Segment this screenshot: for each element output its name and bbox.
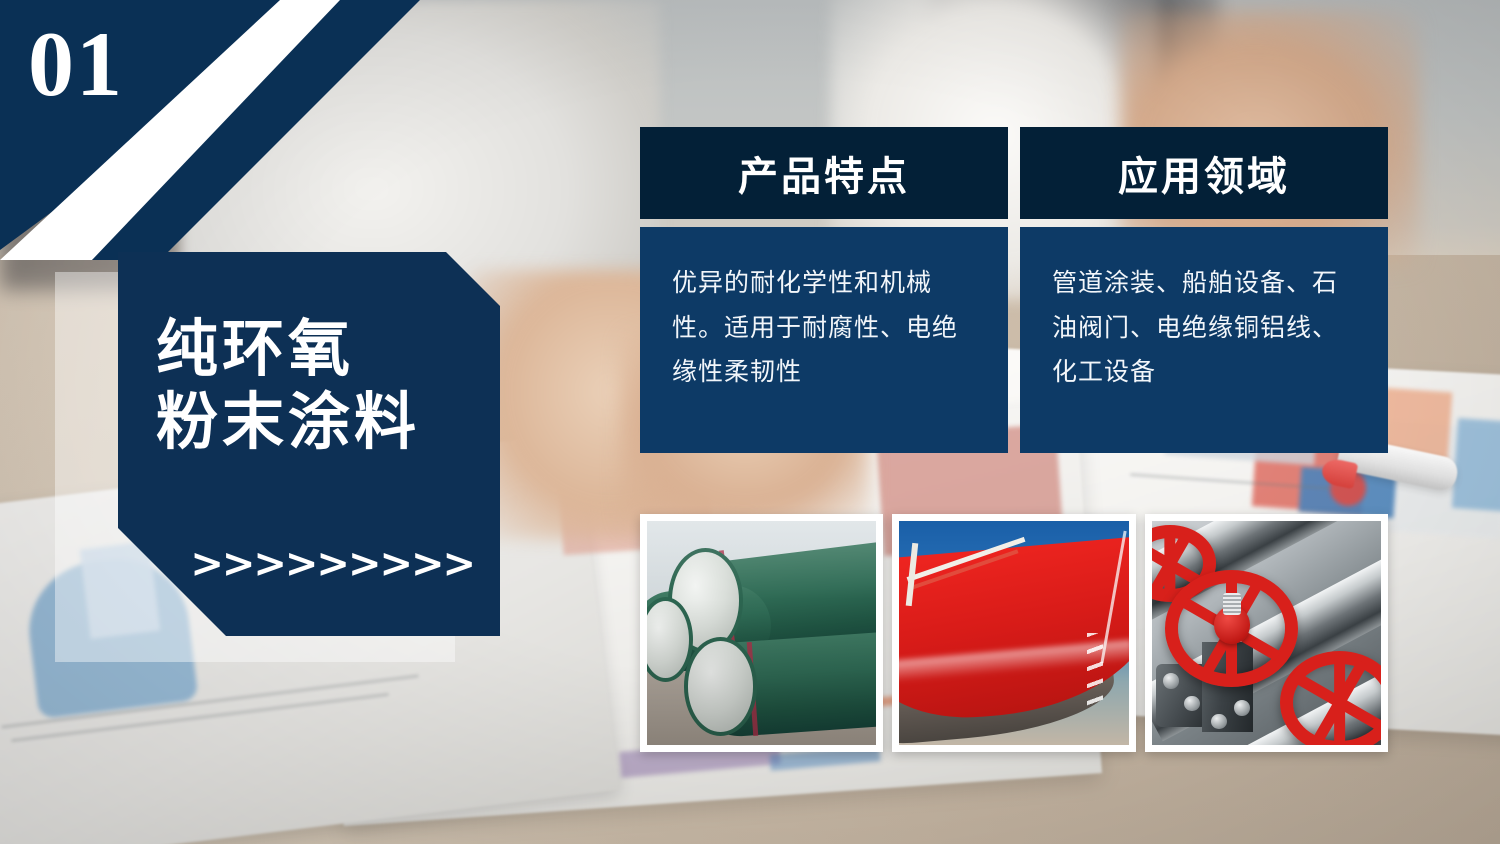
handwheel-spoke	[1334, 656, 1345, 745]
bolt	[1163, 673, 1179, 689]
valve-stem	[1223, 593, 1241, 615]
photo-red-painted-ship-hull[interactable]	[892, 514, 1135, 752]
bolt	[1184, 696, 1200, 712]
title-card: 纯环氧 粉末涂料 >>>>>>>>>	[118, 252, 500, 636]
pipes-scene	[647, 521, 876, 745]
panel-body-text: 优异的耐化学性和机械性。适用于耐腐性、电绝缘性柔韧性	[672, 261, 978, 395]
ship-scene	[899, 521, 1128, 745]
section-number: 01	[28, 18, 124, 110]
panel-heading-product-features[interactable]: 产品特点	[640, 127, 1008, 219]
photo-strip	[640, 514, 1388, 752]
panel-body-application-fields: 管道涂装、船舶设备、石油阀门、电绝缘铜铝线、化工设备	[1020, 227, 1388, 453]
slide-root: 01 纯环氧 粉末涂料 >>>>>>>>> 产品特点 应用领域 优异的耐化学性和…	[0, 0, 1500, 844]
photo-inner	[1152, 521, 1381, 745]
panel-heading-application-fields[interactable]: 应用领域	[1020, 127, 1388, 219]
panel-body-product-features: 优异的耐化学性和机械性。适用于耐腐性、电绝缘性柔韧性	[640, 227, 1008, 453]
handwheel-spoke	[1165, 531, 1176, 597]
panel-heading-row: 产品特点 应用领域	[640, 127, 1388, 219]
title-line-2: 粉末涂料	[156, 385, 486, 458]
photo-red-valve-handwheels[interactable]	[1145, 514, 1388, 752]
valve-scene	[1152, 521, 1381, 745]
pipe-sheen	[647, 521, 876, 745]
chevron-arrows-icon: >>>>>>>>>	[118, 544, 474, 584]
panel-heading-label: 产品特点	[738, 144, 910, 202]
ship-draft-marks	[1087, 633, 1103, 709]
panel-body-row: 优异的耐化学性和机械性。适用于耐腐性、电绝缘性柔韧性 管道涂装、船舶设备、石油阀…	[640, 227, 1388, 453]
photo-inner	[647, 521, 876, 745]
panel-heading-label: 应用领域	[1118, 144, 1290, 202]
title-line-1: 纯环氧	[156, 312, 486, 385]
info-panels: 产品特点 应用领域 优异的耐化学性和机械性。适用于耐腐性、电绝缘性柔韧性 管道涂…	[640, 127, 1388, 453]
bolt	[1234, 700, 1250, 716]
photo-inner	[899, 521, 1128, 745]
panel-body-text: 管道涂装、船舶设备、石油阀门、电绝缘铜铝线、化工设备	[1052, 261, 1358, 395]
title-text: 纯环氧 粉末涂料	[156, 312, 486, 458]
photo-green-coated-steel-pipes[interactable]	[640, 514, 883, 752]
